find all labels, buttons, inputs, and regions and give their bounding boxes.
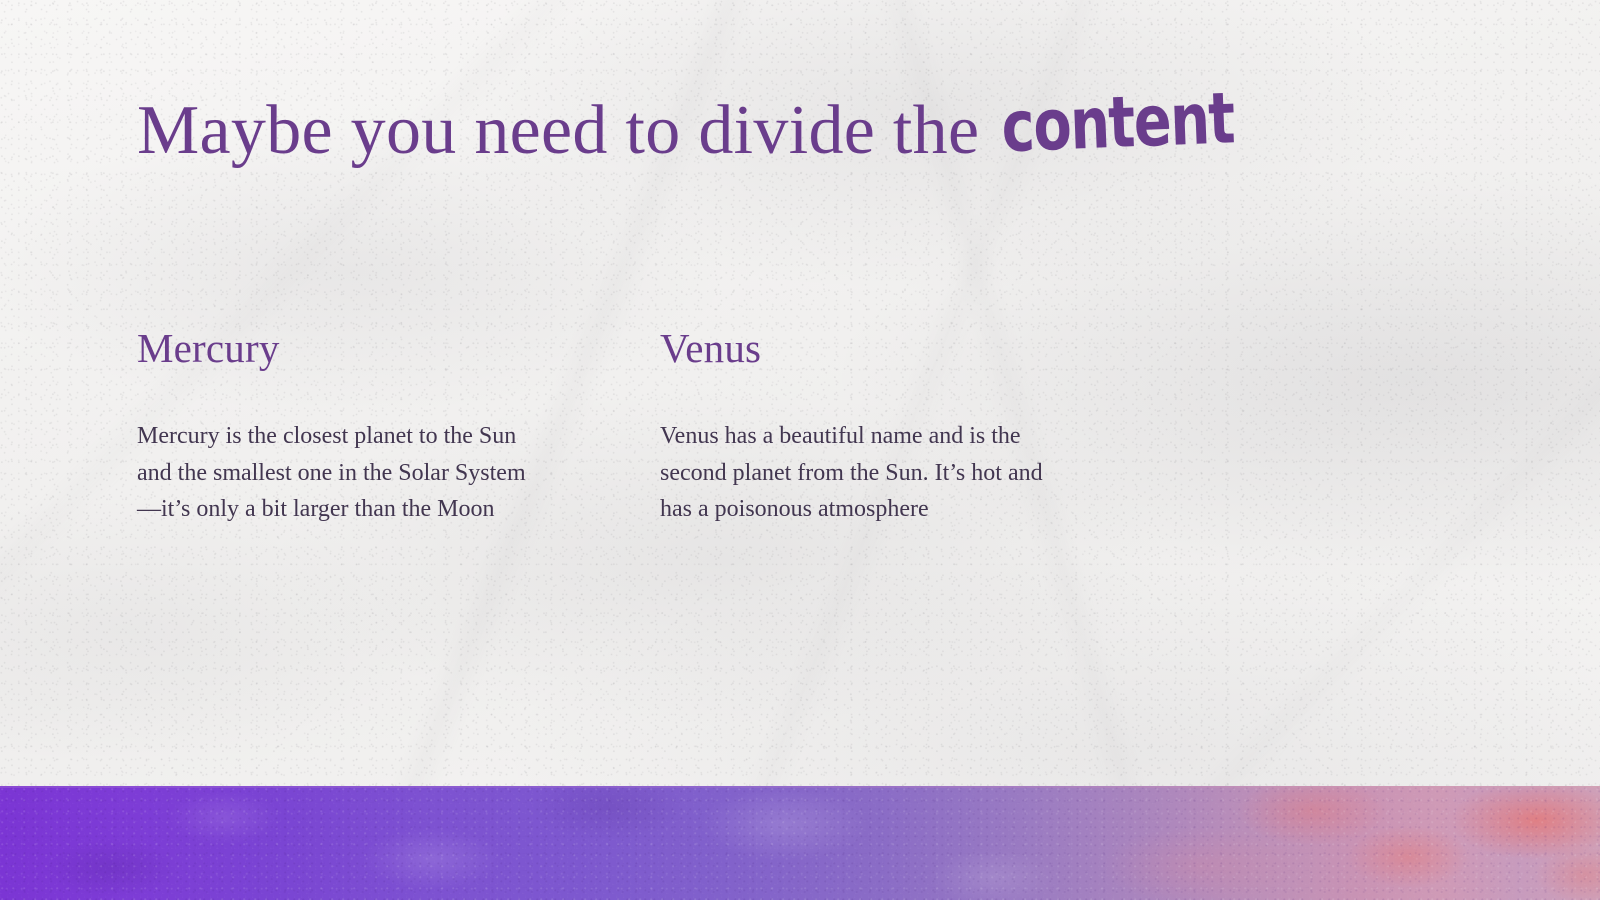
slide-title: Maybe you need to divide the content [137,96,1253,166]
title-serif-text: Maybe you need to divide the [137,96,979,166]
column-mercury: Mercury Mercury is the closest planet to… [137,327,537,528]
column-body-venus: Venus has a beautiful name and is the se… [660,418,1060,528]
column-heading-venus: Venus [660,327,1060,370]
content-columns: Mercury Mercury is the closest planet to… [137,327,1137,528]
column-venus: Venus Venus has a beautiful name and is … [660,327,1060,528]
bottom-watercolor-band [0,786,1600,900]
band-grain-overlay [0,786,1600,900]
column-body-mercury: Mercury is the closest planet to the Sun… [137,418,537,528]
column-heading-mercury: Mercury [137,327,537,370]
band-top-edge-line [0,786,1600,788]
slide-canvas: Maybe you need to divide the content Mer… [0,0,1600,900]
title-handwritten-accent: content [1001,83,1236,163]
